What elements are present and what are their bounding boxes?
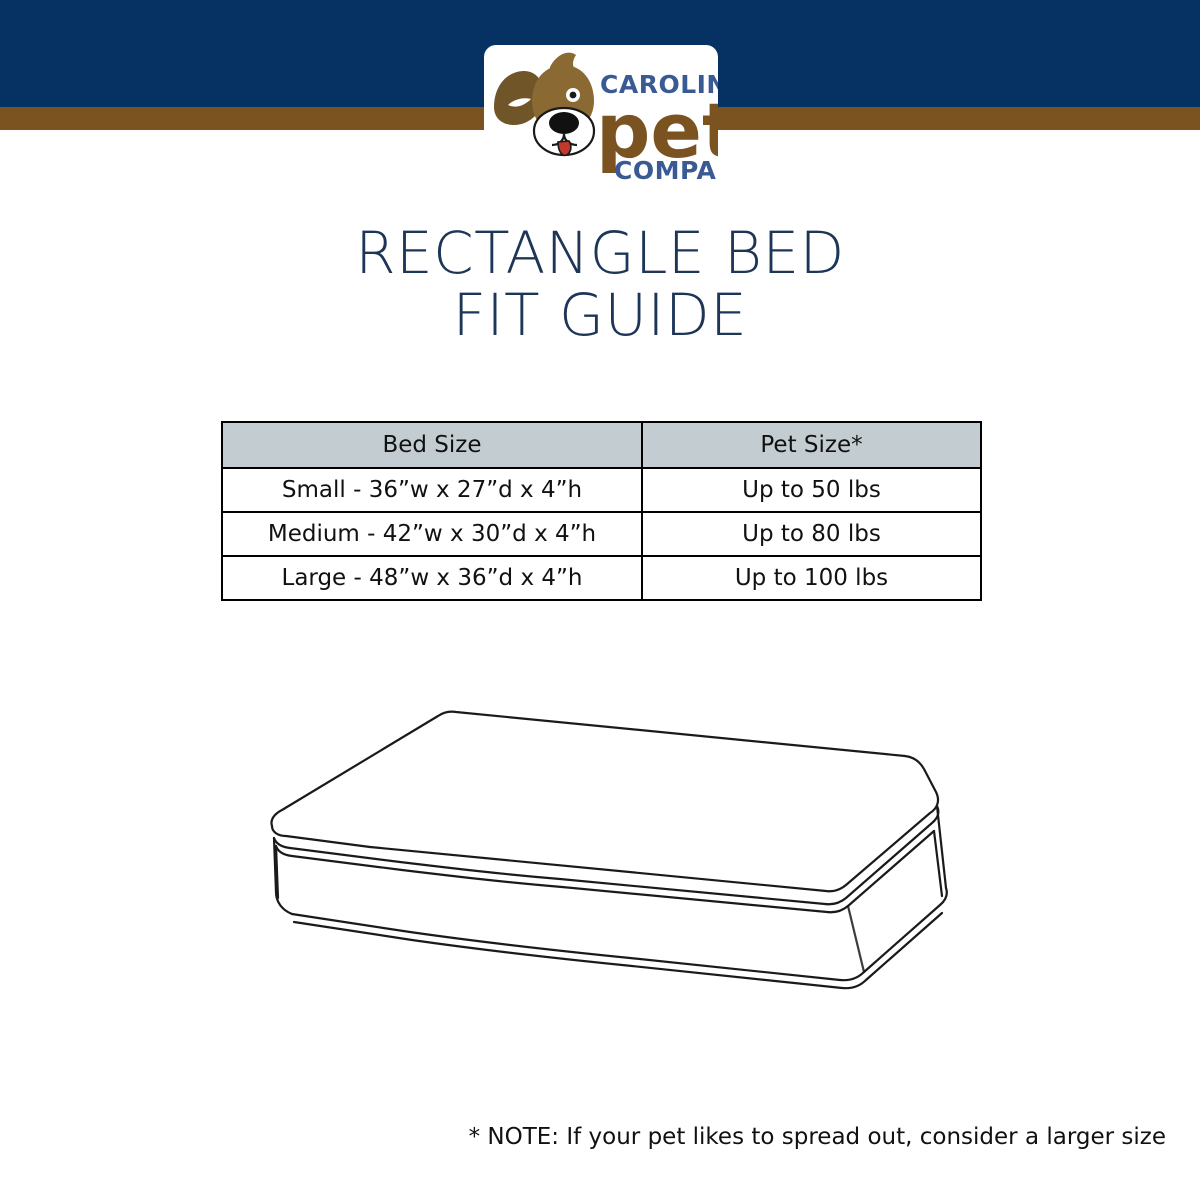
- table-row: Small - 36”w x 27”d x 4”h Up to 50 lbs: [222, 468, 981, 512]
- brand-logo: CAROLINA pet COMPANY CAROLINA pet COMPAN…: [484, 45, 718, 183]
- page-title-line-2: FIT GUIDE: [0, 284, 1200, 346]
- page-title-line-1: RECTANGLE BED: [0, 222, 1200, 284]
- cell-bed-size-large: Large - 48”w x 36”d x 4”h: [222, 556, 642, 600]
- table-row: Large - 48”w x 36”d x 4”h Up to 100 lbs: [222, 556, 981, 600]
- carolina-pet-company-logo-icon: CAROLINA pet COMPANY: [484, 45, 718, 183]
- column-header-pet-size: Pet Size*: [642, 422, 981, 468]
- logo-brand-line1: CAROLINA: [484, 183, 485, 184]
- dog-head-icon: [494, 53, 594, 156]
- table-row: Medium - 42”w x 30”d x 4”h Up to 80 lbs: [222, 512, 981, 556]
- cell-pet-size-small: Up to 50 lbs: [642, 468, 981, 512]
- cell-pet-size-medium: Up to 80 lbs: [642, 512, 981, 556]
- cell-pet-size-large: Up to 100 lbs: [642, 556, 981, 600]
- logo-brand-line3: COMPANY: [484, 183, 485, 184]
- logo-text-company: COMPANY: [614, 156, 718, 183]
- rectangle-bed-line-drawing-icon: [250, 680, 950, 1010]
- column-header-bed-size: Bed Size: [222, 422, 642, 468]
- cell-bed-size-medium: Medium - 42”w x 30”d x 4”h: [222, 512, 642, 556]
- logo-brand-line2: pet: [484, 183, 485, 184]
- table-header-row: Bed Size Pet Size*: [222, 422, 981, 468]
- footer-note: * NOTE: If your pet likes to spread out,…: [0, 1124, 1166, 1150]
- cell-bed-size-small: Small - 36”w x 27”d x 4”h: [222, 468, 642, 512]
- page-title: RECTANGLE BED FIT GUIDE: [0, 222, 1200, 346]
- pet-bed-illustration: [250, 680, 950, 1010]
- brand-logo-card: CAROLINA pet COMPANY CAROLINA pet COMPAN…: [484, 45, 718, 183]
- fit-guide-table: Bed Size Pet Size* Small - 36”w x 27”d x…: [221, 421, 982, 601]
